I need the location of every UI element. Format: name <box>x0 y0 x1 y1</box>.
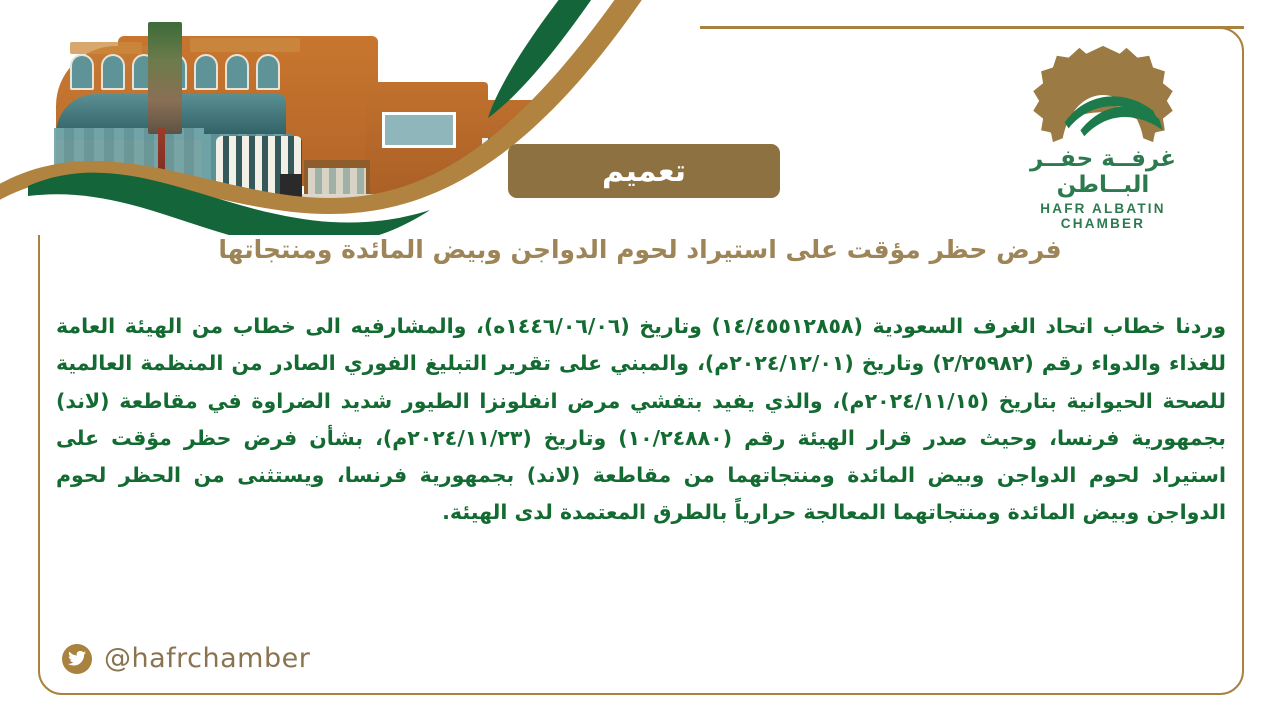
building-lower-glass <box>54 128 204 186</box>
arch-window <box>256 54 280 90</box>
twitter-icon[interactable] <box>62 644 92 674</box>
chamber-logo: غرفــة حفــر البــاطن HAFR ALBATIN CHAMB… <box>998 40 1208 200</box>
arch-window <box>101 54 125 90</box>
building-sign-right <box>190 38 300 52</box>
footer-social[interactable]: @hafrchamber <box>62 643 310 674</box>
circular-badge: تعميم <box>508 144 780 198</box>
header-photo-area <box>0 0 700 235</box>
flagpole <box>158 128 165 200</box>
logo-english-name: HAFR ALBATIN CHAMBER <box>998 201 1208 231</box>
building-sign-left <box>70 42 142 54</box>
right-wing-window <box>382 112 456 148</box>
building-portrait-banner <box>148 22 182 134</box>
plaza-kiosk <box>280 174 302 202</box>
body-paragraph: وردنا خطاب اتحاد الغرف السعودية (١٤/٤٥٥١… <box>56 308 1226 532</box>
twitter-handle[interactable]: @hafrchamber <box>104 643 310 674</box>
page-title: فرض حظر مؤقت على استيراد لحوم الدواجن وب… <box>60 232 1220 267</box>
arch-window <box>194 54 218 90</box>
street <box>30 214 650 223</box>
arch-window <box>70 54 94 90</box>
arch-window <box>225 54 249 90</box>
chamber-logo-mark <box>1008 40 1198 150</box>
announcement-body: وردنا خطاب اتحاد الغرف السعودية (١٤/٤٥٥١… <box>56 308 1226 532</box>
announcement-page: غرفــة حفــر البــاطن HAFR ALBATIN CHAMB… <box>0 0 1280 720</box>
logo-arabic-name: غرفــة حفــر البــاطن <box>998 146 1208 198</box>
